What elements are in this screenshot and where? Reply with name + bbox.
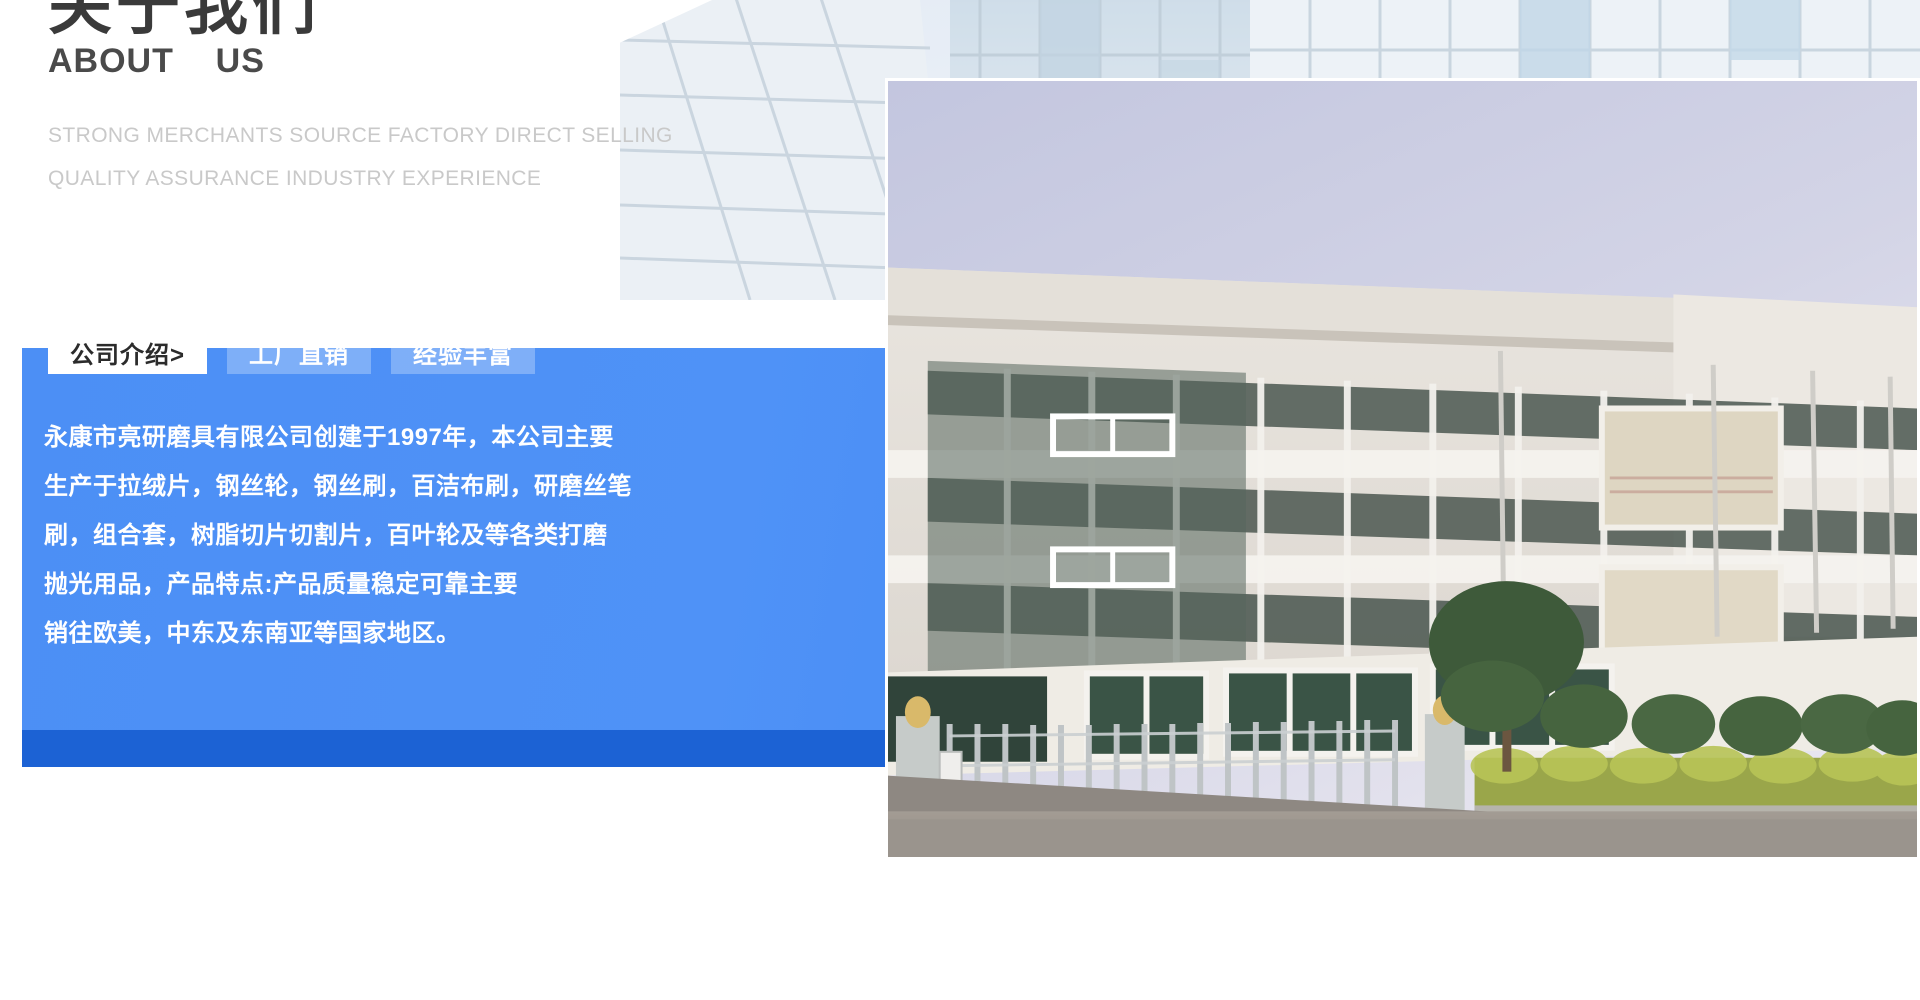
tab-rich-experience[interactable]: 经验丰富 xyxy=(391,330,535,374)
company-intro-text: 永康市亮研磨具有限公司创建于1997年，本公司主要 生产于拉绒片，钢丝轮，钢丝刷… xyxy=(44,413,744,658)
intro-line-1: 永康市亮研磨具有限公司创建于1997年，本公司主要 xyxy=(44,413,744,462)
subtitle: STRONG MERCHANTS SOURCE FACTORY DIRECT S… xyxy=(48,114,748,200)
intro-line-2: 生产于拉绒片，钢丝轮，钢丝刷，百洁布刷，研磨丝笔 xyxy=(44,462,744,511)
title-chinese: 关于我们 xyxy=(48,0,748,38)
intro-line-4: 抛光用品，产品特点:产品质量稳定可靠主要 xyxy=(44,560,744,609)
about-us-section: 关于我们 ABOUT US STRONG MERCHANTS SOURCE FA… xyxy=(0,0,1920,1000)
subtitle-line-1: STRONG MERCHANTS SOURCE FACTORY DIRECT S… xyxy=(48,114,748,157)
tab-list: 公司介绍> 工厂直销 经验丰富 xyxy=(48,330,535,374)
intro-line-3: 刷，组合套，树脂切片切割片，百叶轮及等各类打磨 xyxy=(44,511,744,560)
title-english: ABOUT US xyxy=(48,42,748,81)
tab-factory-direct[interactable]: 工厂直销 xyxy=(227,330,371,374)
tab-company-intro[interactable]: 公司介绍> xyxy=(48,330,207,374)
intro-line-5: 销往欧美，中东及东南亚等国家地区。 xyxy=(44,609,744,658)
subtitle-line-2: QUALITY ASSURANCE INDUSTRY EXPERIENCE xyxy=(48,157,748,200)
factory-exterior-photo xyxy=(885,78,1920,860)
page-title: 关于我们 ABOUT US xyxy=(48,0,748,81)
